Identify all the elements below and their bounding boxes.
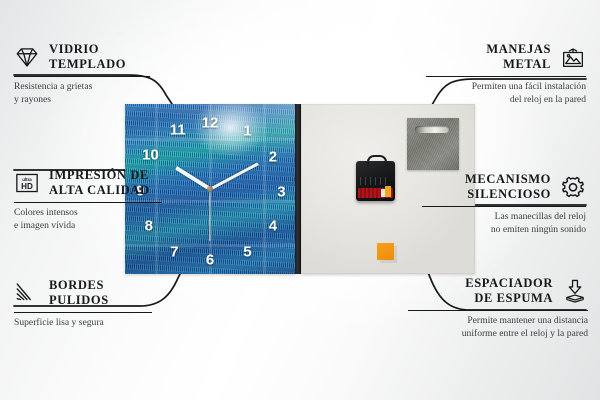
callout-title: MANEJAS	[486, 42, 551, 57]
callout-subtitle: del reloj en la pared	[426, 94, 586, 107]
callout-subtitle: e imagen vívida	[14, 220, 166, 233]
polished-edge-icon	[14, 280, 40, 306]
callout-title: MECANISMO	[465, 172, 551, 187]
callout-title: TEMPLADO	[49, 57, 126, 72]
clock-numeral: 5	[243, 244, 251, 259]
clock-numeral: 2	[269, 149, 277, 164]
callout-title: BORDES	[49, 278, 109, 293]
clock-numeral: 6	[206, 253, 214, 268]
svg-text:HD: HD	[21, 182, 33, 191]
callout-mecanismo-silencioso: MECANISMO SILENCIOSO Las manecillas del …	[422, 172, 586, 237]
callout-subtitle: Superficie lisa y segura	[14, 317, 156, 330]
gear-icon	[560, 174, 586, 200]
clock-numeral: 4	[269, 219, 277, 234]
callout-subtitle: uniforme entre el reloj y la pared	[408, 328, 588, 341]
infographic-canvas: 12 1 2 3 4 5 6 7 8 9 10 11	[0, 0, 600, 400]
callout-title: METAL	[486, 57, 551, 72]
callout-manejas-metal: MANEJAS METAL Permiten una fácil instala…	[426, 42, 586, 107]
callout-subtitle: Permiten una fácil instalación	[426, 81, 586, 94]
clock-numeral: 7	[170, 244, 178, 259]
callout-impresion-hd: ultra HD IMPRESIÓN DE ALTA CALIDAD Color…	[14, 170, 166, 233]
callout-subtitle: no emiten ningún sonido	[422, 224, 586, 237]
callout-title: ALTA CALIDAD	[49, 183, 150, 198]
clock-hand-cap	[207, 186, 213, 192]
callout-vidrio-templado: VIDRIO TEMPLADO Resistencia a grietas y …	[14, 42, 154, 107]
callout-title: PULIDOS	[49, 293, 109, 308]
callout-title: ESPACIADOR	[465, 276, 553, 291]
callout-title: DE ESPUMA	[465, 291, 553, 306]
callout-title: VIDRIO	[49, 42, 126, 57]
picture-hanger-icon	[560, 44, 586, 70]
callout-rule	[422, 206, 586, 208]
callout-title: IMPRESIÓN DE	[49, 168, 150, 183]
clock-mechanism	[356, 161, 395, 201]
clock-numeral: 12	[202, 115, 219, 130]
clock-numeral: 11	[170, 122, 186, 137]
callout-title: SILENCIOSO	[465, 187, 551, 202]
diamond-icon	[14, 44, 40, 70]
callout-subtitle: Resistencia a grietas	[14, 81, 154, 94]
callout-subtitle: Colores intensos	[14, 207, 166, 220]
ultra-hd-icon: ultra HD	[14, 170, 40, 196]
callout-subtitle: y rayones	[14, 94, 154, 107]
callout-espaciador-espuma: ESPACIADOR DE ESPUMA Permite mantener un…	[408, 276, 588, 341]
metal-hanger-plate	[407, 118, 459, 170]
callout-rule	[426, 76, 586, 78]
callout-rule	[14, 312, 152, 314]
callout-rule	[408, 310, 588, 312]
callout-rule	[14, 202, 162, 204]
foam-spacer	[377, 243, 394, 260]
callout-bordes-pulidos: BORDES PULIDOS Superficie lisa y segura	[14, 278, 156, 330]
callout-subtitle: Las manecillas del reloj	[422, 211, 586, 224]
clock-numeral: 3	[277, 185, 285, 200]
callout-subtitle: Permite mantener una distancia	[408, 315, 588, 328]
clock-numeral: 10	[142, 148, 159, 163]
clock-numeral: 1	[243, 124, 251, 139]
callout-rule	[14, 76, 150, 78]
foam-spacer-icon	[562, 278, 588, 304]
